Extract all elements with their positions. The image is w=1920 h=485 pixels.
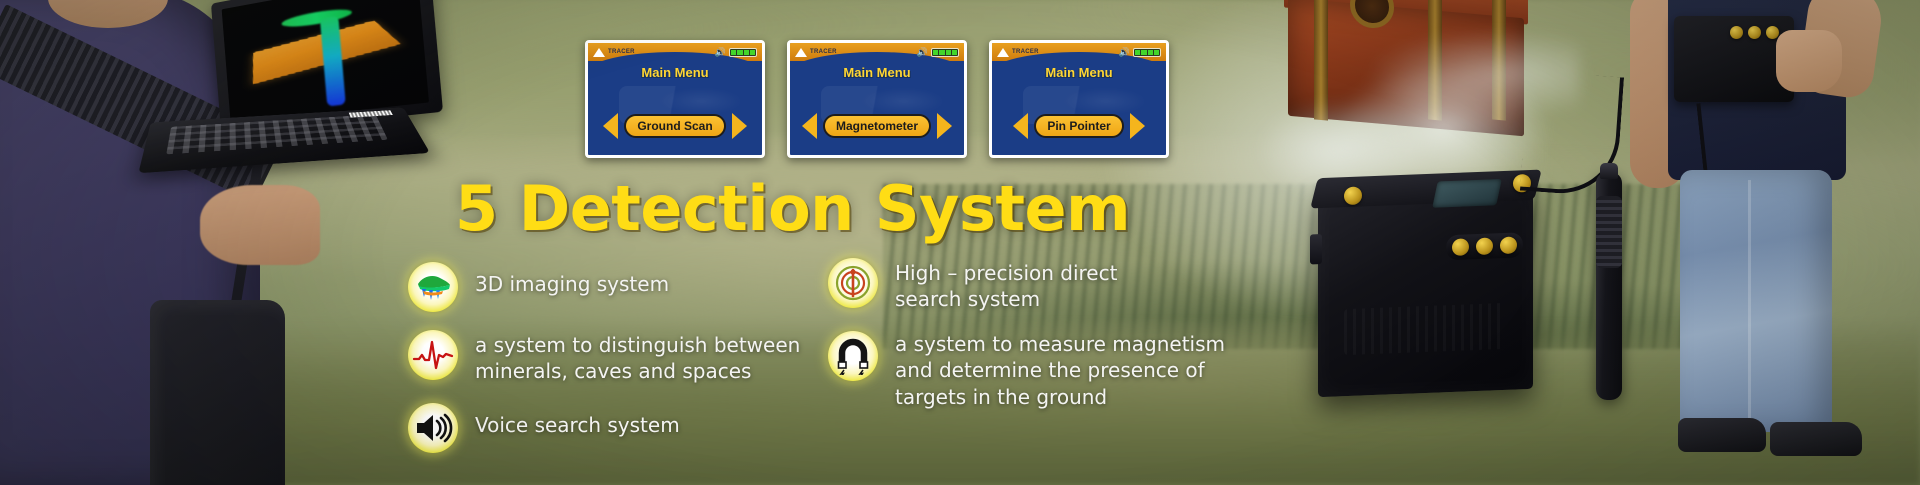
detector-case-emboss xyxy=(1344,303,1504,355)
mode-button[interactable]: Magnetometer xyxy=(823,114,931,138)
menu-panel-magnetometer[interactable]: TRACER 🔊 Main Menu Magnetometer xyxy=(787,40,967,158)
mode-button[interactable]: Pin Pointer xyxy=(1034,114,1123,138)
operator-right-jeans xyxy=(1680,170,1832,432)
operator-right-shoe xyxy=(1770,422,1862,456)
mode-selector: Magnetometer xyxy=(790,113,964,139)
detector-case-latch xyxy=(1310,234,1322,264)
detector-knob xyxy=(1452,238,1469,256)
speaker-icon xyxy=(408,403,458,453)
operator-right-jeans-seam xyxy=(1748,180,1751,420)
operator-left-arm xyxy=(200,185,320,265)
brand-name: TRACER xyxy=(608,49,635,55)
detector-knob xyxy=(1476,237,1493,255)
sound-icon: 🔊 xyxy=(715,48,726,57)
prev-mode-arrow-icon[interactable] xyxy=(603,113,618,139)
panel-header: Main Menu xyxy=(588,65,762,80)
panel-status-bar: TRACER 🔊 xyxy=(588,43,762,61)
feature-item: High – precision direct search system xyxy=(828,258,1258,313)
feature-item: 3D imaging system xyxy=(408,262,808,312)
next-mode-arrow-icon[interactable] xyxy=(732,113,747,139)
3d-imaging-icon xyxy=(408,262,458,312)
promo-banner: TRACER 🔊 Main Menu Ground Scan TRACER xyxy=(0,0,1920,485)
panel-header: Main Menu xyxy=(790,65,964,80)
battery-icon xyxy=(729,48,757,57)
next-mode-arrow-icon[interactable] xyxy=(937,113,952,139)
triangle-logo-icon xyxy=(997,48,1009,57)
feature-item: a system to distinguish between minerals… xyxy=(408,330,808,385)
feature-item: Voice search system xyxy=(408,403,808,453)
mode-selector: Pin Pointer xyxy=(992,113,1166,139)
next-mode-arrow-icon[interactable] xyxy=(1130,113,1145,139)
control-unit-knob xyxy=(1748,26,1761,39)
control-unit-knob xyxy=(1730,26,1743,39)
operator-right xyxy=(1636,0,1920,485)
feature-list-left: 3D imaging system a system to distinguis… xyxy=(408,262,808,471)
feature-label: 3D imaging system xyxy=(475,262,669,297)
feature-label: a system to distinguish between minerals… xyxy=(475,330,800,385)
battery-icon xyxy=(1133,48,1161,57)
prev-mode-arrow-icon[interactable] xyxy=(1013,113,1028,139)
sound-icon: 🔊 xyxy=(1119,48,1130,57)
feature-list-right: High – precision direct search system a … xyxy=(828,258,1258,428)
brand-logo: TRACER xyxy=(795,48,837,57)
feature-label: Voice search system xyxy=(475,403,680,438)
panel-hud: 🔊 xyxy=(917,48,959,57)
panel-hud: 🔊 xyxy=(715,48,757,57)
pin-pointer-grip xyxy=(1596,196,1622,268)
feature-label: a system to measure magnetism and determ… xyxy=(895,331,1225,410)
triangle-logo-icon xyxy=(593,48,605,57)
laptop-screen xyxy=(222,0,429,124)
operator-right-hand xyxy=(1776,30,1842,92)
page-title: 5 Detection System xyxy=(455,172,1130,245)
operator-right-shoe xyxy=(1678,418,1766,452)
device-screens-group: TRACER 🔊 Main Menu Ground Scan TRACER xyxy=(585,40,1169,158)
waveform-icon xyxy=(408,330,458,380)
battery-icon xyxy=(931,48,959,57)
pin-pointer-tip xyxy=(1600,163,1618,179)
panel-status-bar: TRACER 🔊 xyxy=(790,43,964,61)
panel-header: Main Menu xyxy=(992,65,1166,80)
control-unit-knob xyxy=(1766,26,1779,39)
panel-hud: 🔊 xyxy=(1119,48,1161,57)
menu-panel-ground-scan[interactable]: TRACER 🔊 Main Menu Ground Scan xyxy=(585,40,765,158)
detector-case xyxy=(1318,184,1533,397)
triangle-logo-icon xyxy=(795,48,807,57)
radar-signal-icon xyxy=(828,258,878,308)
equipment-bag xyxy=(150,300,285,485)
menu-panel-pin-pointer[interactable]: TRACER 🔊 Main Menu Pin Pointer xyxy=(989,40,1169,158)
mode-selector: Ground Scan xyxy=(588,113,762,139)
prev-mode-arrow-icon[interactable] xyxy=(802,113,817,139)
detector-case-display xyxy=(1432,179,1502,208)
feature-label: High – precision direct search system xyxy=(895,258,1117,313)
laptop-keyboard xyxy=(166,114,388,154)
brand-name: TRACER xyxy=(810,49,837,55)
mode-button[interactable]: Ground Scan xyxy=(624,114,725,138)
brand-name: TRACER xyxy=(1012,49,1039,55)
panel-status-bar: TRACER 🔊 xyxy=(992,43,1166,61)
brand-logo: TRACER xyxy=(997,48,1039,57)
laptop xyxy=(148,0,448,182)
scan-3d-ridge xyxy=(281,6,352,30)
brand-logo: TRACER xyxy=(593,48,635,57)
laptop-base xyxy=(138,107,430,173)
detector-knob xyxy=(1500,236,1517,254)
sound-icon: 🔊 xyxy=(917,48,928,57)
feature-item: a system to measure magnetism and determ… xyxy=(828,331,1258,410)
detector-knob-row xyxy=(1446,232,1523,260)
magnet-icon xyxy=(828,331,878,381)
